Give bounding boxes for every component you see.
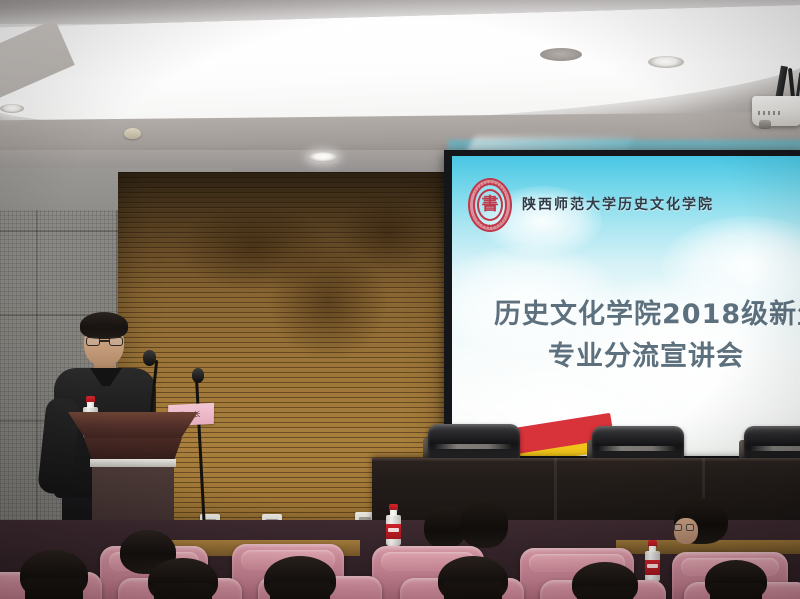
podium-top-surface [68,412,198,440]
audience-head [705,560,767,599]
chair-highlight [434,444,512,449]
bottle-label [645,560,660,575]
person-glasses-icon [674,524,694,531]
university-seal-logo: 書 [468,178,512,232]
audience-head [438,556,508,599]
audience-head [264,556,336,599]
bottle-label [386,524,401,539]
water-bottle [645,540,660,582]
ceiling-projector [752,88,800,128]
podium-accent-stripe [90,459,176,467]
person-head [460,498,508,548]
audience-head [572,562,638,599]
smoke-detector-icon [124,128,141,139]
projector-body [752,96,800,126]
lecture-hall-photo: 書 陕西师范大学历史文化学院 历史文化学院2018级新生 专业分流宣讲会 [0,0,800,599]
glasses-bridge [100,340,109,342]
microphone-head-icon [192,368,204,383]
stage-table-edge [372,458,800,462]
downlight-icon [0,104,24,113]
glasses-lens-right [109,337,123,346]
speaker-hair [80,312,128,339]
speaker-glasses-icon [86,337,123,346]
chair-highlight [598,446,676,451]
ceiling-panel-notch [0,19,75,113]
wood-wall-stain [338,192,438,272]
projection-screen: 書 陕西师范大学历史文化学院 历史文化学院2018级新生 专业分流宣讲会 [452,156,800,456]
chair-highlight [750,446,800,451]
person-face [674,518,698,544]
audience-person [668,498,732,558]
projector-lens-icon [759,120,771,129]
audience-head [20,550,88,599]
downlight-icon [648,56,684,68]
podium-mid-surface [84,438,182,460]
glasses-lens-right [686,524,694,531]
slide-title-line-2: 专业分流宣讲会 [548,334,744,373]
slide-title-line-1: 历史文化学院2018级新生 [494,292,800,331]
slide-organization-text: 陕西师范大学历史文化学院 [522,194,714,214]
projector-vent [758,111,780,115]
water-bottle [386,504,401,546]
glasses-lens-left [86,337,100,346]
audience-head [148,558,218,599]
downlight-icon [540,48,582,61]
microphone-head-icon [143,350,156,366]
downlight-icon [308,152,338,162]
seal-glyph: 書 [482,197,499,214]
glasses-lens-left [674,524,682,531]
